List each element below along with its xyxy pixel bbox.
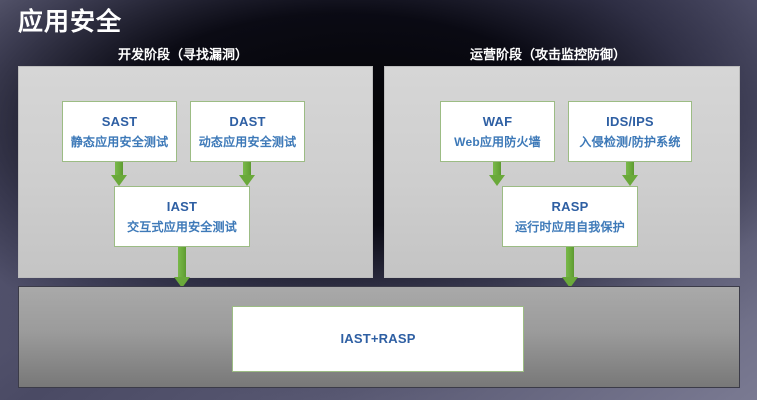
arrow-down-icon-dast-to-iast	[239, 162, 255, 186]
arrow-down-icon-iast-to-result	[174, 247, 190, 288]
card-iast-acronym: IAST	[167, 198, 197, 216]
card-sast-acronym: SAST	[102, 113, 137, 131]
page-title: 应用安全	[18, 7, 122, 37]
card-rasp[interactable]: RASP 运行时应用自我保护	[502, 186, 638, 247]
card-dast-description: 动态应用安全测试	[199, 134, 297, 150]
operations-stage-heading: 运营阶段（攻击监控防御）	[470, 47, 626, 63]
card-dast[interactable]: DAST 动态应用安全测试	[190, 101, 305, 162]
arrow-down-icon-ids-to-rasp	[622, 162, 638, 186]
card-rasp-acronym: RASP	[552, 198, 589, 216]
card-dast-acronym: DAST	[229, 113, 265, 131]
card-waf-acronym: WAF	[483, 113, 512, 131]
card-waf[interactable]: WAF Web应用防火墙	[440, 101, 555, 162]
card-iast-rasp-result[interactable]: IAST+RASP	[232, 306, 524, 372]
development-stage-heading: 开发阶段（寻找漏洞）	[118, 47, 248, 63]
card-sast-description: 静态应用安全测试	[71, 134, 169, 150]
card-iast-description: 交互式应用安全测试	[127, 219, 237, 235]
card-rasp-description: 运行时应用自我保护	[515, 219, 625, 235]
arrow-down-icon-rasp-to-result	[562, 247, 578, 288]
card-ids-ips-description: 入侵检测/防护系统	[579, 134, 680, 150]
card-ids-ips-acronym: IDS/IPS	[606, 113, 654, 131]
arrow-down-icon-sast-to-iast	[111, 162, 127, 186]
card-ids-ips[interactable]: IDS/IPS 入侵检测/防护系统	[568, 101, 692, 162]
arrow-down-icon-waf-to-rasp	[489, 162, 505, 186]
card-waf-description: Web应用防火墙	[454, 134, 541, 150]
card-sast[interactable]: SAST 静态应用安全测试	[62, 101, 177, 162]
card-iast[interactable]: IAST 交互式应用安全测试	[114, 186, 250, 247]
card-iast-rasp-label: IAST+RASP	[340, 330, 415, 348]
slide-canvas: 应用安全 开发阶段（寻找漏洞） 运营阶段（攻击监控防御） SAST 静态应用安全…	[0, 0, 757, 400]
